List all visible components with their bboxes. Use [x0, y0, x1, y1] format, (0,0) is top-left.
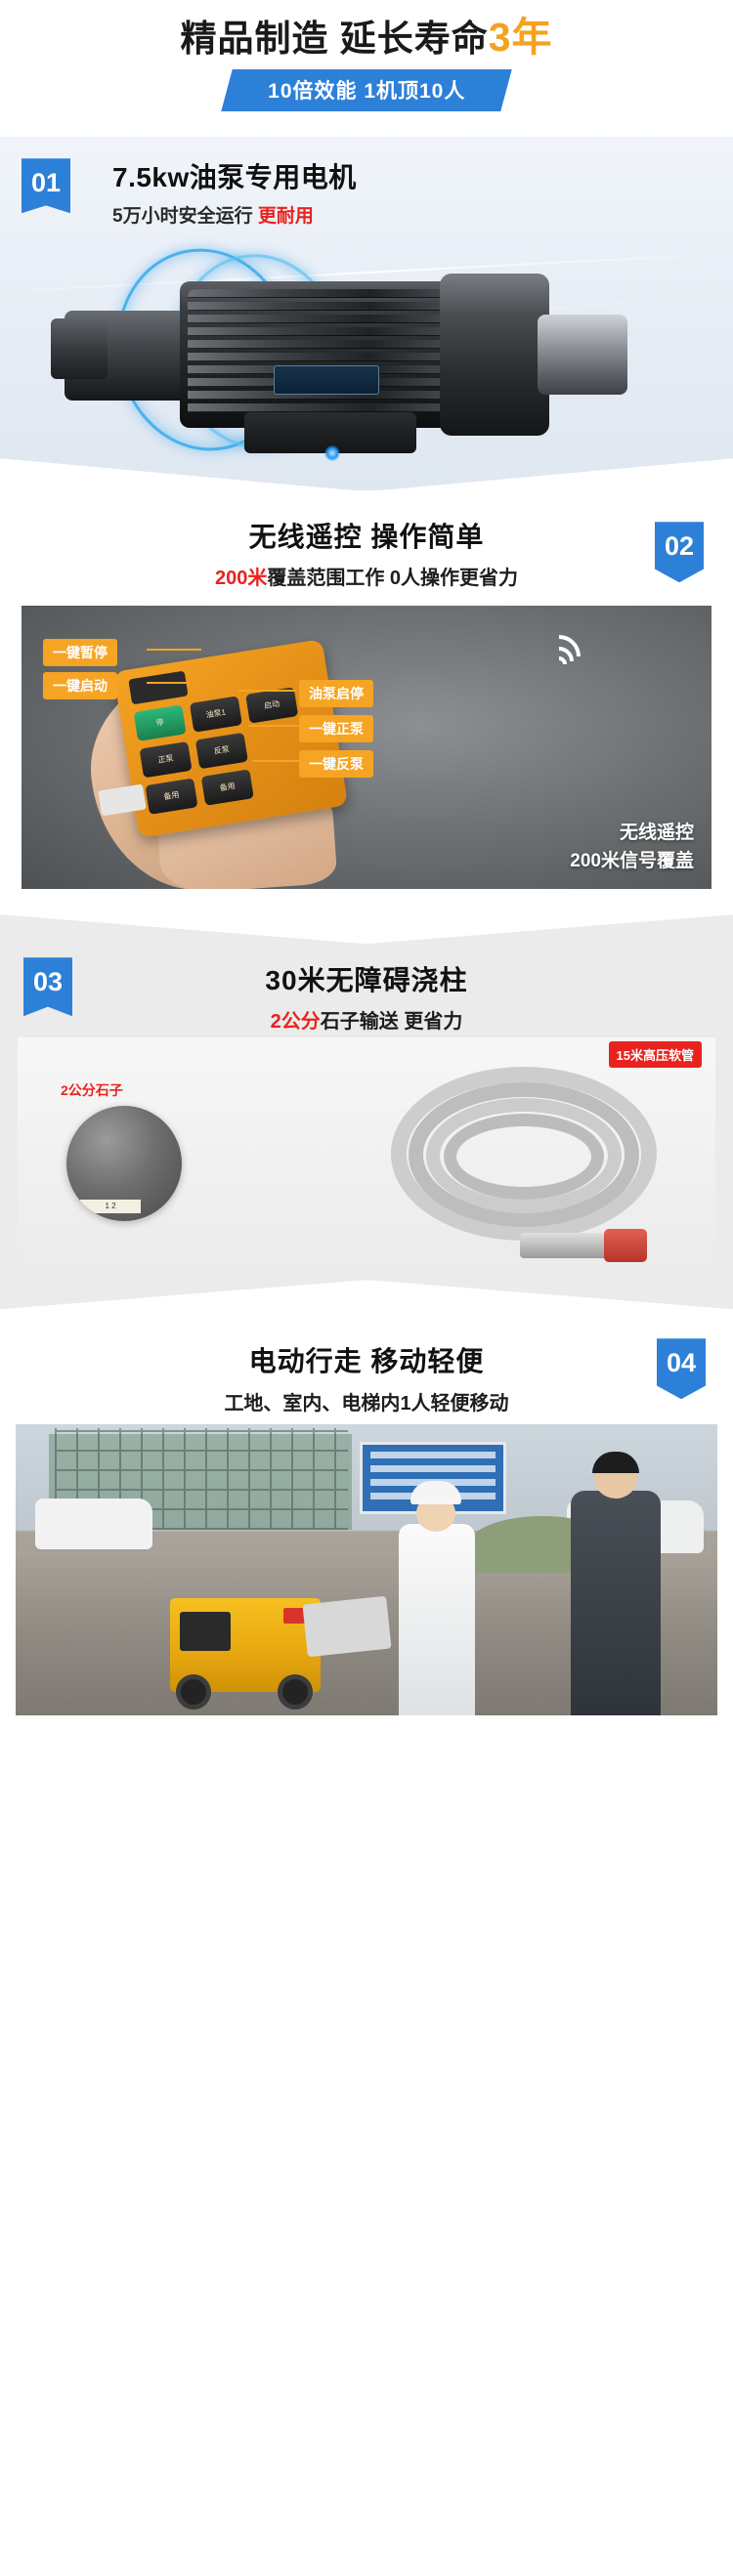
- banner-sub-wrap: 10倍效能 1机顶10人: [0, 69, 733, 111]
- section-03-header: 03 30米无障碍浇柱 2公分石子输送 更省力: [0, 948, 733, 1037]
- worker-with-helmet: [399, 1524, 475, 1715]
- section-01-subtitle-plain: 5万小时安全运行: [112, 206, 258, 227]
- remote-button-start[interactable]: 启动: [245, 687, 298, 723]
- oil-pump-block: [51, 318, 108, 379]
- callout-line-2: [147, 682, 190, 684]
- parked-van-left: [35, 1499, 152, 1549]
- worker-dark-shirt: [571, 1491, 661, 1715]
- section-04-subtitle: 工地、室内、电梯内1人轻便移动: [0, 1387, 733, 1415]
- section-02-header: 02 无线遥控 操作简单 200米覆盖范围工作 0人操作更省力: [0, 516, 733, 600]
- hose-length-tag: 15米高压软管: [609, 1041, 702, 1068]
- remote-screen: [128, 671, 188, 705]
- banner-subtitle-text: 10倍效能 1机顶10人: [268, 75, 465, 105]
- section-03-subtitle-plain: 石子输送 更省力: [321, 1011, 463, 1033]
- top-banner: 精品制造 延长寿命3年 10倍效能 1机顶10人: [0, 0, 733, 121]
- remote-control-photo: 停 油泵1 启动 正泵 反泵 备用 备用 一键暂停 一键启动: [22, 606, 711, 889]
- machine-wheel-rear: [278, 1674, 313, 1710]
- section-01-title: 7.5kw油泵专用电机: [112, 156, 733, 195]
- wireless-signal-icon: [547, 631, 598, 676]
- motor-nameplate: [274, 365, 379, 395]
- callout-start: 一键启动: [43, 672, 117, 699]
- callout-line-3: [238, 690, 297, 692]
- hose-coupler: [604, 1229, 647, 1262]
- callout-line-5: [252, 760, 299, 762]
- motor-front-housing: [440, 274, 549, 436]
- section-04-header: 04 电动行走 移动轻便 工地、室内、电梯内1人轻便移动: [0, 1330, 733, 1424]
- callout-line-1: [147, 649, 201, 651]
- section-04-mobility: 04 电动行走 移动轻便 工地、室内、电梯内1人轻便移动: [0, 1330, 733, 1715]
- banner-subtitle-ribbon: 10倍效能 1机顶10人: [221, 69, 512, 111]
- section-04-subtitle-bold: 1人轻便移动: [400, 1393, 508, 1415]
- remote-button-stop[interactable]: 停: [134, 705, 187, 741]
- callout-pump-toggle: 油泵启停: [299, 680, 373, 707]
- led-indicator-icon: [324, 445, 340, 461]
- remote-button-forward[interactable]: 正泵: [140, 741, 193, 778]
- callout-line-4: [248, 725, 299, 727]
- section-04-title: 电动行走 移动轻便: [0, 1340, 733, 1379]
- section-02-subtitle-accent: 200米: [215, 568, 267, 589]
- motor-shaft: [538, 315, 627, 395]
- section-02-subtitle-plain: 覆盖范围工作 0人操作更省力: [267, 568, 518, 589]
- callout-reverse-pump: 一键反泵: [299, 750, 373, 778]
- stone-size-label: 2公分石子: [61, 1080, 123, 1100]
- section-02-remote: 02 无线遥控 操作简单 200米覆盖范围工作 0人操作更省力 停 油泵1 启动…: [0, 490, 733, 889]
- section-01-subtitle-accent: 更耐用: [258, 206, 314, 227]
- section-01-header: 01 7.5kw油泵专用电机 5万小时安全运行 更耐用: [0, 137, 733, 242]
- banner-title: 精品制造 延长寿命3年: [0, 14, 733, 62]
- section-04-subtitle-plain: 工地、室内、电梯内: [224, 1393, 400, 1415]
- section-02-subtitle: 200米覆盖范围工作 0人操作更省力: [0, 562, 733, 590]
- hose-photo: 15米高压软管 2公分石子 1 2: [18, 1037, 715, 1272]
- remote-button-spare-1[interactable]: 备用: [145, 779, 197, 815]
- machine-control-panel: [302, 1596, 391, 1658]
- hose-coil-ring-4: [444, 1114, 604, 1200]
- banner-title-main: 精品制造 延长寿命: [180, 19, 488, 59]
- hose-end-fitting: [520, 1233, 614, 1258]
- machine-motor-block: [180, 1612, 231, 1651]
- banner-title-accent: 3年: [489, 15, 553, 60]
- callout-pause: 一键暂停: [43, 639, 117, 666]
- product-detail-page: 精品制造 延长寿命3年 10倍效能 1机顶10人 01 7.5kw油泵专用电机 …: [0, 0, 733, 1715]
- callout-forward-pump: 一键正泵: [299, 715, 373, 742]
- section-03-panel: 03 30米无障碍浇柱 2公分石子输送 更省力 15米高压软管 2公分石子 1 …: [0, 914, 733, 1309]
- watermark-line-2: 200米信号覆盖: [570, 848, 694, 876]
- section-01-subtitle: 5万小时安全运行 更耐用: [112, 201, 733, 228]
- remote-button-spare-2[interactable]: 备用: [201, 770, 254, 806]
- motor-cooling-fins: [188, 289, 448, 420]
- section-03-hose: 03 30米无障碍浇柱 2公分石子输送 更省力 15米高压软管 2公分石子 1 …: [0, 914, 733, 1309]
- motor-illustration: [0, 242, 733, 486]
- section-02-title: 无线遥控 操作简单: [0, 516, 733, 555]
- motor-graphic: [51, 264, 637, 447]
- section-03-subtitle-accent: 2公分: [271, 1011, 321, 1033]
- machine-wheel-front: [176, 1674, 211, 1710]
- ruler-scale: 1 2: [80, 1200, 141, 1213]
- watermark-line-1: 无线遥控: [570, 820, 694, 848]
- remote-button-reverse[interactable]: 反泵: [195, 733, 248, 769]
- section-01-motor: 01 7.5kw油泵专用电机 5万小时安全运行 更耐用: [0, 137, 733, 490]
- remote-button-pump1[interactable]: 油泵1: [190, 697, 242, 733]
- construction-site-photo: [16, 1424, 717, 1715]
- safety-helmet-icon: [410, 1481, 461, 1504]
- section-03-title: 30米无障碍浇柱: [0, 959, 733, 998]
- remote-watermark: 无线遥控 200米信号覆盖: [570, 820, 694, 875]
- stone-sample-photo: 1 2: [66, 1106, 182, 1221]
- section-03-subtitle: 2公分石子输送 更省力: [0, 1005, 733, 1034]
- section-badge-01: 01: [22, 158, 70, 213]
